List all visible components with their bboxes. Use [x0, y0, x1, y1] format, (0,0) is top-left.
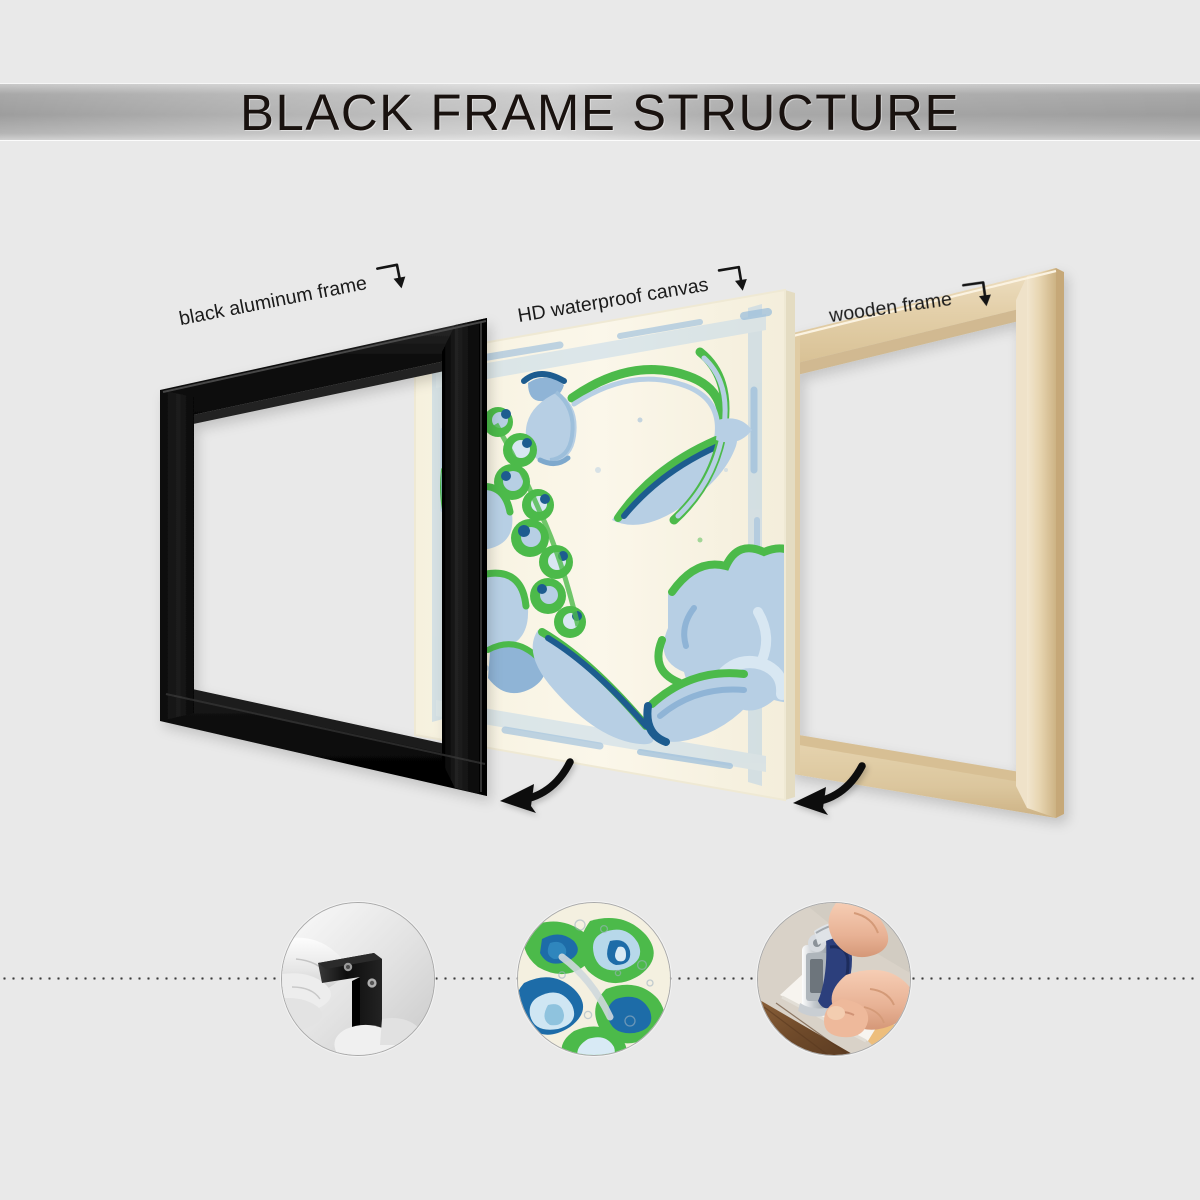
- hook-down-arrow-icon: [960, 274, 999, 316]
- assembly-arrow-canvas: [500, 762, 570, 813]
- hook-down-arrow-icon: [716, 258, 756, 301]
- thumbnail-stapling[interactable]: [757, 902, 911, 1056]
- black-frame-right-depth: [442, 325, 455, 788]
- thumbnail-stapling-image: [758, 903, 910, 1055]
- infographic-stage: BLACK FRAME STRUCTURE: [0, 0, 1200, 1200]
- hook-down-arrow-icon: [374, 256, 415, 300]
- black-frame-left-rail: [160, 390, 194, 721]
- thumbnail-canvas-texture[interactable]: [517, 902, 671, 1056]
- wooden-frame-right-grain: [1027, 268, 1056, 818]
- thumbnail-frame-corner[interactable]: [281, 902, 435, 1056]
- thumbnail-canvas-texture-image: [518, 903, 670, 1055]
- wooden-frame-right-depth: [1056, 268, 1064, 818]
- wooden-frame-right-inner: [1016, 276, 1027, 808]
- canvas-depth-edge: [785, 290, 795, 800]
- thumbnail-frame-corner-image: [282, 903, 434, 1055]
- wooden-frame: [789, 268, 1064, 818]
- black-frame-right-rail: [455, 318, 487, 796]
